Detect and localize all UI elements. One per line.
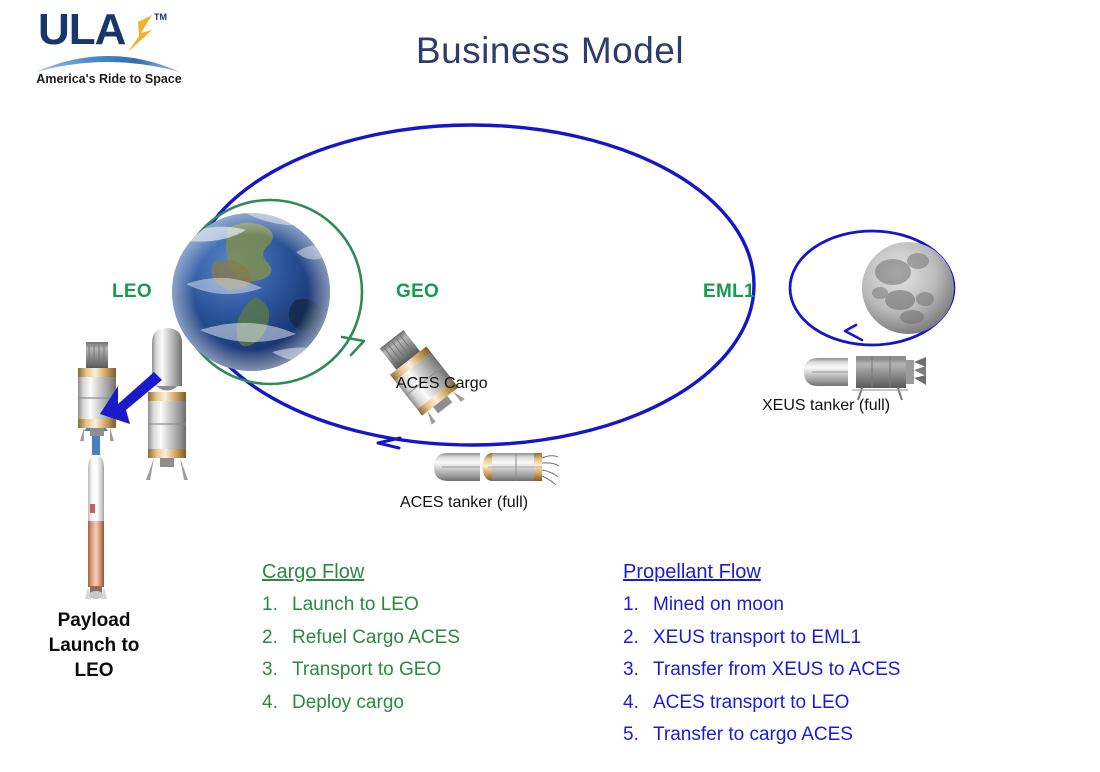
list-item: 3. Transfer from XEUS to ACES — [623, 654, 900, 687]
payload-launch-line-1: Payload — [10, 608, 178, 633]
list-item-number: 1. — [262, 589, 292, 622]
list-item: 4. Deploy cargo — [262, 687, 460, 720]
orbit-label-leo: LEO — [112, 281, 152, 303]
propellant-flow-title: Propellant Flow — [623, 561, 900, 584]
orbit-label-geo: GEO — [396, 281, 439, 303]
list-item: 2. XEUS transport to EML1 — [623, 622, 900, 655]
aces-tanker-vehicle-icon — [434, 453, 559, 485]
list-item-label: Refuel Cargo ACES — [292, 622, 460, 655]
aces-stage-right-icon — [146, 392, 188, 480]
list-item-number: 5. — [623, 719, 653, 752]
list-item-label: Transfer to cargo ACES — [653, 719, 853, 752]
list-item-label: Transport to GEO — [292, 654, 441, 687]
list-item-number: 2. — [262, 622, 292, 655]
moon-globe-icon — [862, 242, 954, 334]
list-item-label: Mined on moon — [653, 589, 784, 622]
trademark-symbol: TM — [154, 12, 167, 22]
list-item-number: 4. — [262, 687, 292, 720]
list-item-number: 4. — [623, 687, 653, 720]
list-item: 1. Mined on moon — [623, 589, 900, 622]
list-item-number: 3. — [623, 654, 653, 687]
propellant-flow-list: Propellant Flow 1. Mined on moon 2. XEUS… — [623, 561, 900, 752]
caption-aces-tanker: ACES tanker (full) — [400, 494, 528, 512]
list-item: 4. ACES transport to LEO — [623, 687, 900, 720]
list-item-label: Deploy cargo — [292, 687, 404, 720]
payload-launch-label: Payload Launch to LEO — [10, 608, 178, 683]
list-item-label: ACES transport to LEO — [653, 687, 849, 720]
ula-tagline: America's Ride to Space — [34, 72, 184, 86]
cargo-flow-title: Cargo Flow — [262, 561, 460, 584]
list-item: 3. Transport to GEO — [262, 654, 460, 687]
earth-globe-icon — [172, 208, 330, 371]
list-item-label: Transfer from XEUS to ACES — [653, 654, 900, 687]
page-title: Business Model — [0, 30, 1100, 72]
payload-launch-line-2: Launch to — [10, 633, 178, 658]
propellant-flow-items: 1. Mined on moon 2. XEUS transport to EM… — [623, 589, 900, 752]
list-item-number: 1. — [623, 589, 653, 622]
list-item-label: Launch to LEO — [292, 589, 419, 622]
caption-aces-cargo: ACES Cargo — [396, 375, 488, 393]
list-item-number: 2. — [623, 622, 653, 655]
payload-launch-line-3: LEO — [10, 658, 178, 683]
launch-vehicle-icon — [85, 455, 107, 599]
xeus-tanker-vehicle-icon — [804, 356, 926, 400]
list-item-label: XEUS transport to EML1 — [653, 622, 861, 655]
list-item-number: 3. — [262, 654, 292, 687]
orbit-label-eml1: EML1 — [703, 281, 755, 303]
list-item: 2. Refuel Cargo ACES — [262, 622, 460, 655]
caption-xeus-tanker: XEUS tanker (full) — [762, 397, 890, 415]
list-item: 5. Transfer to cargo ACES — [623, 719, 900, 752]
aces-stage-left-icon — [78, 342, 116, 441]
cargo-flow-items: 1. Launch to LEO 2. Refuel Cargo ACES 3.… — [262, 589, 460, 719]
list-item: 1. Launch to LEO — [262, 589, 460, 622]
cargo-flow-list: Cargo Flow 1. Launch to LEO 2. Refuel Ca… — [262, 561, 460, 719]
